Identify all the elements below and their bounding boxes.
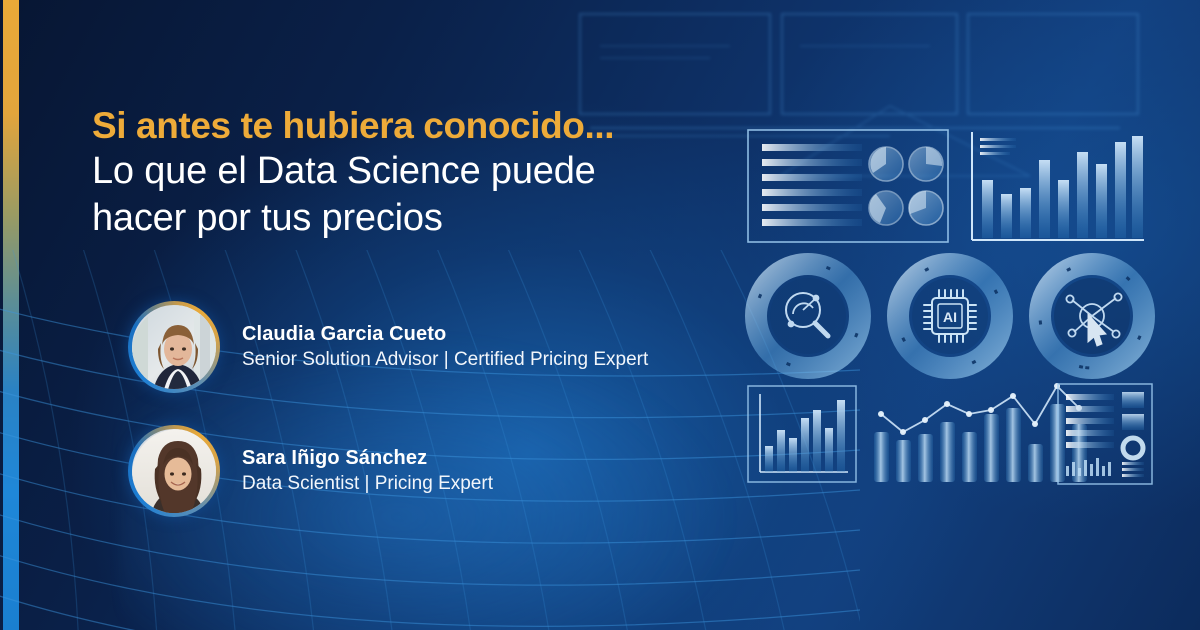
speakers-list: Claudia Garcia Cueto Senior Solution Adv… [128, 296, 648, 544]
sara-inigo-sanchez-photo [132, 429, 216, 513]
combo-chart [874, 383, 1087, 482]
dashboard-panel [1058, 384, 1152, 484]
donut-ai: AI [879, 245, 1021, 387]
data-science-graphic: AI [740, 118, 1160, 508]
speaker-name: Claudia Garcia Cueto [242, 321, 648, 347]
claudia-garcia-cueto-photo [132, 305, 216, 389]
donut-analysis [740, 245, 879, 387]
avatar [132, 305, 216, 389]
speaker-item: Claudia Garcia Cueto Senior Solution Adv… [128, 296, 648, 398]
headline-gold: Si antes te hubiera conocido... [92, 104, 742, 148]
speaker-item: Sara Iñigo Sánchez Data Scientist | Pric… [128, 420, 648, 522]
ai-chip-label: AI [943, 309, 957, 325]
framed-bar-chart [748, 386, 856, 482]
avatar-ring [128, 425, 220, 517]
speaker-text: Claudia Garcia Cueto Senior Solution Adv… [242, 321, 648, 373]
pie-chart-icon [869, 147, 943, 225]
avatar [132, 429, 216, 513]
report-pie-panel [748, 130, 948, 242]
headline-white-line2: hacer por tus precios [92, 195, 742, 242]
avatar-ring [128, 301, 220, 393]
bar-chart-panel [972, 132, 1144, 240]
speaker-role: Data Scientist | Pricing Expert [242, 471, 493, 497]
headline-block: Si antes te hubiera conocido... Lo que e… [92, 104, 742, 242]
speaker-role: Senior Solution Advisor | Certified Pric… [242, 347, 648, 373]
donut-network [1032, 256, 1152, 376]
webinar-banner: Si antes te hubiera conocido... Lo que e… [0, 0, 1200, 630]
speaker-text: Sara Iñigo Sánchez Data Scientist | Pric… [242, 445, 493, 497]
speaker-name: Sara Iñigo Sánchez [242, 445, 493, 471]
headline-white-line1: Lo que el Data Science puede [92, 148, 742, 195]
